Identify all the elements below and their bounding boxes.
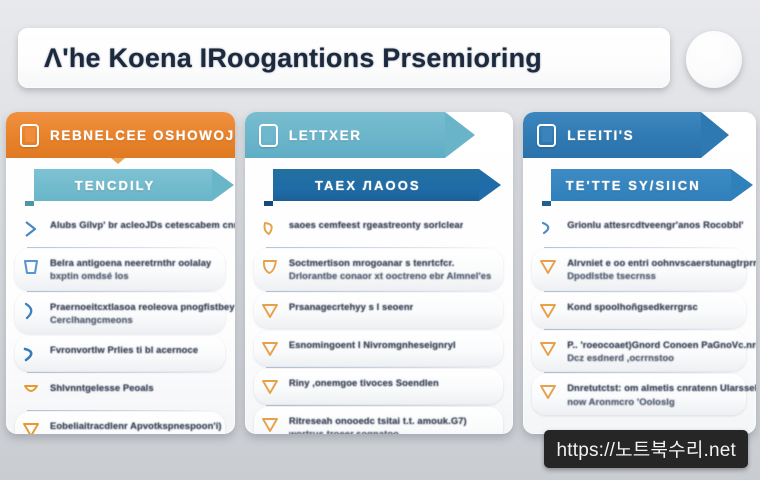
card-column-1[interactable]: REBNELCEE OSHOWOJNCIN TENCDILY Alubs Gíl…: [6, 112, 235, 434]
card-1-banner-wrap: TENCDILY: [6, 158, 235, 201]
card-1-banner-label: TENCDILY: [75, 178, 156, 193]
card-3-header: LEEITI'S: [523, 112, 701, 158]
card-column-3[interactable]: LEEITI'S TE'TTE SY/SIICN Grionlu attesrc…: [523, 112, 756, 434]
card-2-header: LETTXER: [245, 112, 445, 158]
list-item[interactable]: Eobeliaitracdlenr Apvotkspnespoon'i) Sur…: [15, 412, 225, 434]
card-1-header: REBNELCEE OSHOWOJNCIN: [6, 112, 235, 158]
list-item[interactable]: P.. 'roeocoaet)Gnord Conoen PaGnoVc.nrdl…: [532, 331, 746, 372]
list-item[interactable]: Grionlu attesrcdtveengr'anos Rocobbl': [532, 211, 746, 246]
card-row: REBNELCEE OSHOWOJNCIN TENCDILY Alubs Gíl…: [6, 112, 756, 434]
card-3-list: Grionlu attesrcdtveengr'anos Rocobbl' Al…: [523, 201, 756, 415]
list-item-text: Grionlu attesrcdtveengr'anos Rocobbl': [567, 218, 743, 231]
card-1-header-label: REBNELCEE OSHOWOJNCIN: [50, 128, 235, 143]
list-item-text: Shlvnntgelesse Peoals: [50, 381, 154, 394]
list-item[interactable]: Dnretutctst: om almetis cnratenn Ularsse…: [532, 374, 746, 415]
funnel-icon: [21, 420, 41, 434]
list-item-text: saoes cemfeest rgeastreonty sorlclear: [289, 218, 464, 231]
list-item[interactable]: Soctmertison mrogoanar s tenrtcfcr. Drlo…: [254, 249, 503, 290]
list-item-text: Belra antigoena neeretrnthr oolalay bxpt…: [50, 256, 211, 283]
funnel-icon: [260, 219, 280, 239]
watermark-badge: https://노트북수리.net: [544, 430, 748, 468]
chevron-right-icon: [21, 301, 41, 321]
funnel-icon: [260, 339, 280, 359]
list-item-text: P.. 'roeocoaet)Gnord Conoen PaGnoVc.nrdl…: [567, 338, 756, 365]
list-item-text: Riny ,onemgoe tivoces Soendlen: [289, 376, 439, 389]
document-icon: [537, 124, 556, 147]
list-item-text: Fvronvortlw Prlies ti bl acernoce: [50, 343, 198, 356]
document-icon: [20, 124, 39, 147]
chevron-right-icon: [538, 219, 558, 239]
funnel-icon: [260, 301, 280, 321]
funnel-icon: [260, 257, 280, 277]
circle-badge-icon: [686, 31, 742, 88]
list-item[interactable]: saoes cemfeest rgeastreonty sorlclear: [254, 211, 503, 246]
funnel-icon: [538, 257, 558, 277]
funnel-icon: [538, 339, 558, 359]
list-item[interactable]: Esnomingoent I Nivromgnheseignryl: [254, 331, 503, 366]
list-item-text: Alrvniet e oo entri oohnvscaerstunagtrpr…: [567, 256, 756, 283]
card-2-list: saoes cemfeest rgeastreonty sorlclear So…: [245, 201, 513, 434]
list-item[interactable]: Riny ,onemgoe tivoces Soendlen: [254, 369, 503, 404]
chevron-right-icon: [21, 344, 41, 364]
card-1-banner: TENCDILY: [34, 169, 212, 201]
card-3-banner: TE'TTE SY/SIICN: [551, 169, 731, 201]
list-item[interactable]: Belra antigoena neeretrnthr oolalay bxpt…: [15, 249, 225, 290]
list-item[interactable]: Prsanagecrtehyy s l seoenr: [254, 293, 503, 328]
card-1-list: Alubs Gílvp' br acleoJDs cetescabem cnml…: [6, 201, 235, 434]
list-item-text: Kond spoolhoñgsedkerrgrsc: [567, 300, 698, 313]
funnel-icon: [260, 415, 280, 434]
list-item[interactable]: Shlvnntgelesse Peoals: [15, 374, 225, 409]
card-2-header-label: LETTXER: [289, 128, 362, 143]
list-item[interactable]: Ritreseah onooedc tsitai t.t. amouk.G7) …: [254, 407, 503, 434]
card-column-2[interactable]: LETTXER TAEX ЛAOOS saoes cemfeest rgeast…: [245, 112, 513, 434]
card-3-banner-wrap: TE'TTE SY/SIICN: [523, 158, 756, 201]
list-item-text: Dnretutctst: om almetis cnratenn Ularsse…: [567, 381, 756, 408]
title-bar: Λ'he Koena IRoogantions Prsemioring: [18, 28, 670, 88]
chevron-right-icon: [21, 257, 41, 277]
list-item-text: Praernoeitcxtlasoa reoleova pnogfistbey …: [50, 300, 235, 327]
list-item-text: Ritreseah onooedc tsitai t.t. amouk.G7) …: [289, 414, 467, 434]
list-item-text: Eobeliaitracdlenr Apvotkspnespoon'i) Sur…: [50, 419, 222, 434]
card-2-banner-label: TAEX ЛAOOS: [315, 178, 421, 193]
funnel-icon: [538, 301, 558, 321]
funnel-icon: [260, 377, 280, 397]
card-2-banner: TAEX ЛAOOS: [273, 169, 479, 201]
list-item[interactable]: Alrvniet e oo entri oohnvscaerstunagtrpr…: [532, 249, 746, 290]
list-item[interactable]: Kond spoolhoñgsedkerrgrsc: [532, 293, 746, 328]
list-item[interactable]: Alubs Gílvp' br acleoJDs cetescabem cnml…: [15, 211, 225, 246]
list-item-text: Alubs Gílvp' br acleoJDs cetescabem cnml…: [50, 218, 235, 231]
funnel-icon: [538, 382, 558, 402]
watermark-url: https://노트북수리.net: [556, 440, 736, 461]
card-3-header-label: LEEITI'S: [567, 128, 634, 143]
card-3-banner-label: TE'TTE SY/SIICN: [566, 178, 701, 193]
list-item[interactable]: Praernoeitcxtlasoa reoleova pnogfistbey …: [15, 293, 225, 334]
list-item-text: Esnomingoent I Nivromgnheseignryl: [289, 338, 456, 351]
list-item-text: Soctmertison mrogoanar s tenrtcfcr. Drlo…: [289, 256, 492, 283]
card-2-banner-wrap: TAEX ЛAOOS: [245, 158, 513, 201]
list-item-text: Prsanagecrtehyy s l seoenr: [289, 300, 414, 313]
document-icon: [259, 124, 278, 147]
list-item[interactable]: Fvronvortlw Prlies ti bl acernoce: [15, 336, 225, 371]
funnel-icon: [21, 382, 41, 402]
chevron-right-icon: [21, 219, 41, 239]
page-title: Λ'he Koena IRoogantions Prsemioring: [44, 43, 542, 74]
